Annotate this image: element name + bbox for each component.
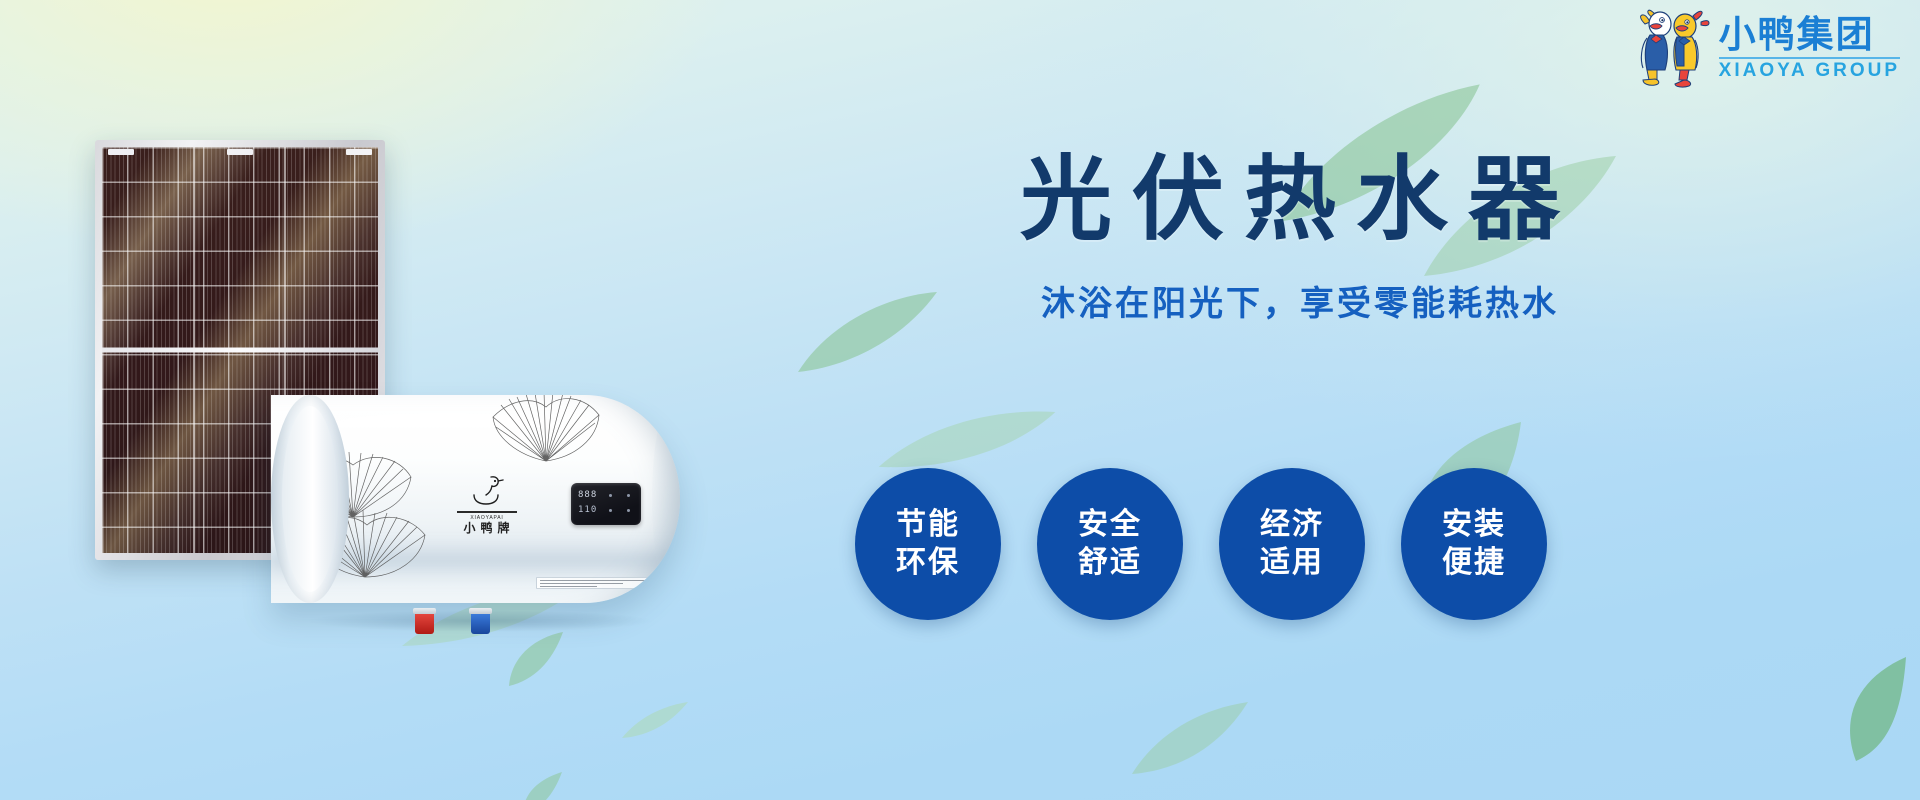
brand-name-cn: 小鸭牌: [446, 521, 528, 535]
hot-water-outlet-pipe: [415, 612, 434, 634]
rating-label: [536, 577, 658, 589]
leaf-decor-icon: [520, 770, 565, 800]
feature-badge[interactable]: 节能 环保: [855, 468, 1001, 620]
feature-badge[interactable]: 经济 适用: [1219, 468, 1365, 620]
badge-line-2: 舒适: [1078, 544, 1142, 582]
company-logo[interactable]: 小鸭集团 XIAOYA GROUP: [1635, 6, 1900, 90]
page-subtitle: 沐浴在阳光下，享受零能耗热水: [860, 276, 1740, 325]
control-display-panel[interactable]: 888 110: [571, 483, 641, 525]
promo-banner: XIAOYAPAI 小鸭牌 888 110: [0, 0, 1920, 800]
badge-line-1: 经济: [1260, 506, 1324, 544]
logo-name-en: XIAOYA GROUP: [1719, 60, 1900, 81]
duck-logo-icon: [470, 473, 504, 509]
feature-badge-list: 节能 环保 安全 舒适 经济 适用 安装 便捷: [855, 468, 1655, 620]
display-value-bottom: 110: [578, 505, 597, 515]
brand-mark: XIAOYAPAI 小鸭牌: [446, 473, 528, 535]
feature-badge[interactable]: 安装 便捷: [1401, 468, 1547, 620]
badge-line-1: 节能: [896, 506, 960, 544]
badge-line-1: 安装: [1442, 506, 1506, 544]
two-ducks-mascot-icon: [1635, 8, 1713, 88]
logo-divider: [1719, 57, 1900, 59]
display-value-top: 888: [578, 490, 597, 500]
leaf-decor-icon: [620, 700, 690, 742]
badge-line-2: 适用: [1260, 544, 1324, 582]
badge-line-1: 安全: [1078, 506, 1142, 544]
leaf-decor-icon: [505, 630, 567, 690]
badge-line-2: 便捷: [1442, 544, 1506, 582]
electric-water-heater-icon: XIAOYAPAI 小鸭牌 888 110: [235, 395, 680, 620]
feature-badge[interactable]: 安全 舒适: [1037, 468, 1183, 620]
page-title: 光伏热水器: [860, 150, 1740, 250]
leaf-decor-icon: [1130, 700, 1250, 778]
cold-water-inlet-pipe: [471, 612, 490, 634]
logo-name-cn: 小鸭集团: [1719, 15, 1875, 55]
leaf-decor-icon: [1830, 655, 1910, 765]
badge-line-2: 环保: [896, 544, 960, 582]
headline-block: 光伏热水器 沐浴在阳光下，享受零能耗热水: [860, 150, 1740, 325]
